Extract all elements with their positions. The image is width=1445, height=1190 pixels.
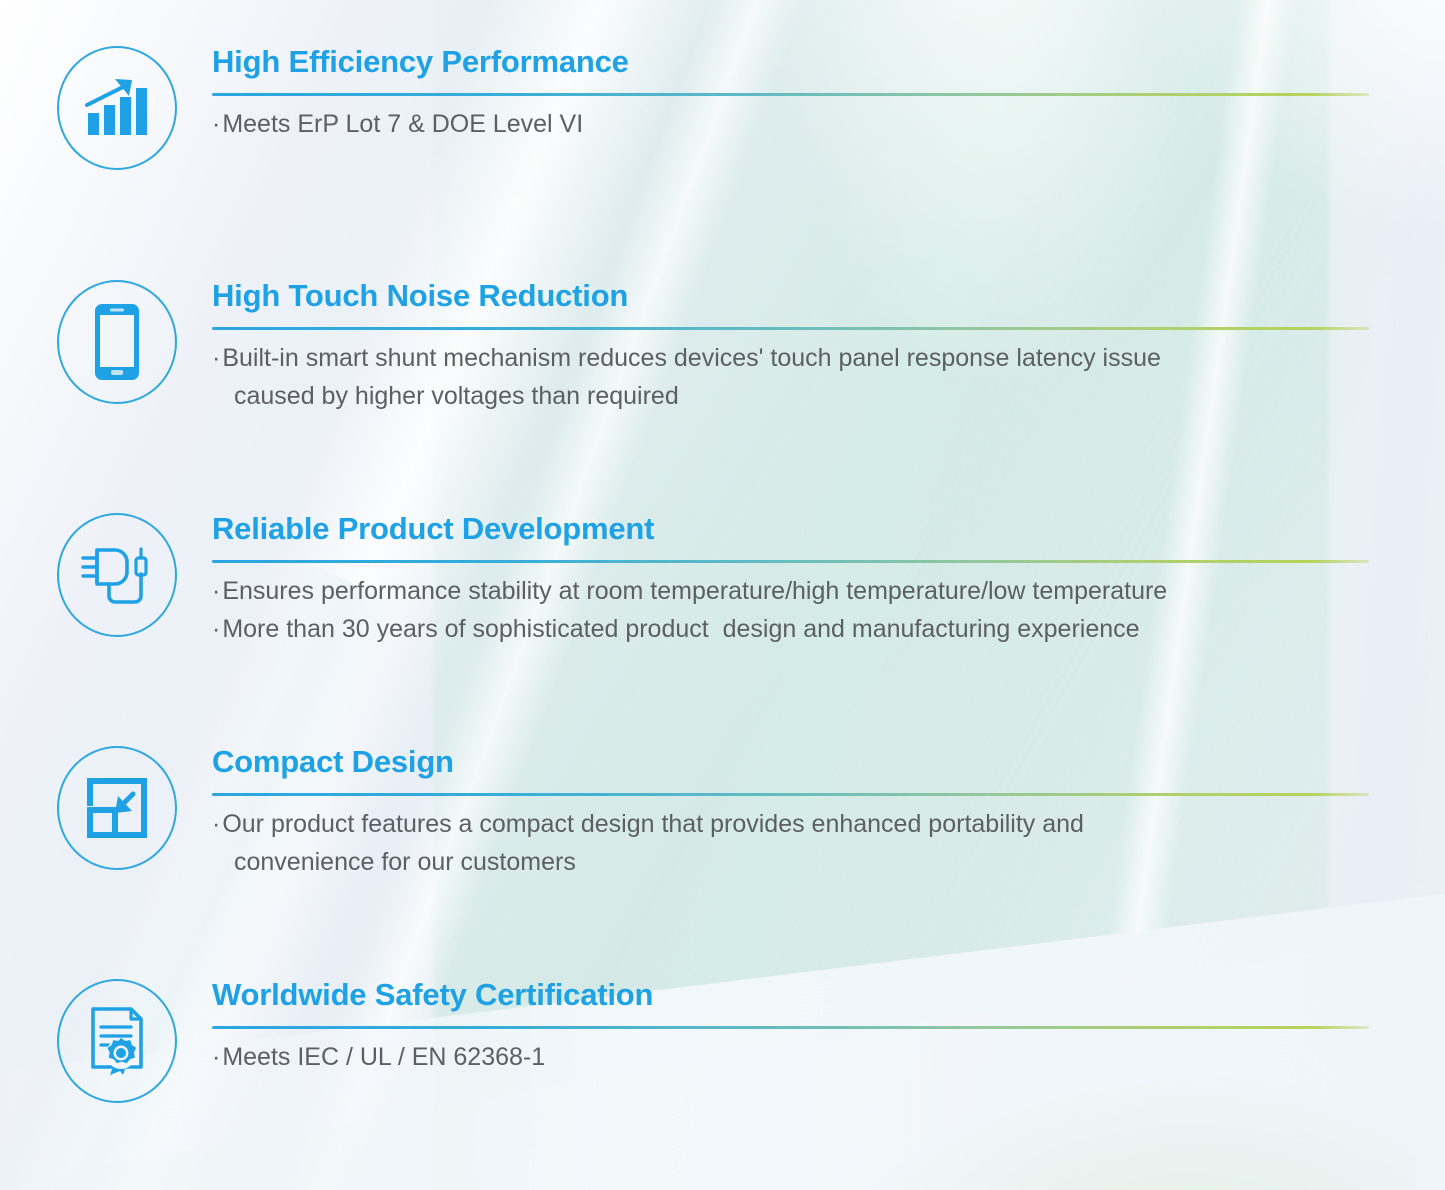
feature-divider — [212, 1026, 1369, 1029]
feature-icon-wrapper — [55, 46, 179, 170]
feature-row-high-touch-noise-reduction: High Touch Noise Reduction ·Built-in sma… — [0, 280, 1445, 415]
bullet-text: Our product features a compact design th… — [222, 810, 1084, 838]
feature-bullet-continuation: convenience for our customers — [212, 843, 1445, 881]
bullet-marker: · — [212, 1043, 220, 1071]
feature-divider — [212, 93, 1369, 96]
feature-title: High Touch Noise Reduction — [212, 280, 1445, 313]
feature-title: Compact Design — [212, 746, 1445, 779]
bullet-marker: · — [212, 110, 220, 138]
feature-bullet-list: ·Built-in smart shunt mechanism reduces … — [212, 339, 1445, 415]
feature-text-block: High Efficiency Performance ·Meets ErP L… — [212, 46, 1445, 143]
bullet-marker: · — [212, 615, 220, 643]
bullet-text: convenience for our customers — [234, 848, 576, 876]
feature-row-worldwide-safety-certification: Worldwide Safety Certification ·Meets IE… — [0, 979, 1445, 1103]
bullet-text: More than 30 years of sophisticated prod… — [222, 615, 1139, 643]
feature-text-block: High Touch Noise Reduction ·Built-in sma… — [212, 280, 1445, 415]
feature-bullet-list: ·Meets ErP Lot 7 & DOE Level VI — [212, 105, 1445, 143]
bullet-marker: · — [212, 577, 220, 605]
feature-icon-wrapper — [55, 979, 179, 1103]
feature-divider — [212, 327, 1369, 330]
feature-row-high-efficiency-performance: High Efficiency Performance ·Meets ErP L… — [0, 46, 1445, 170]
feature-text-block: Compact Design ·Our product features a c… — [212, 746, 1445, 881]
power-adapter-icon — [77, 538, 157, 612]
feature-bullet: ·Meets ErP Lot 7 & DOE Level VI — [212, 105, 1445, 143]
feature-divider — [212, 560, 1369, 563]
smartphone-icon — [94, 303, 140, 381]
feature-icon-wrapper — [55, 746, 179, 870]
icon-circle-outline — [57, 979, 177, 1103]
feature-title: High Efficiency Performance — [212, 46, 1445, 79]
icon-circle-outline — [57, 280, 177, 404]
compact-resize-icon — [86, 777, 148, 839]
bullet-text: Meets IEC / UL / EN 62368-1 — [222, 1043, 545, 1071]
certificate-award-icon — [85, 1005, 149, 1077]
icon-circle-outline — [57, 513, 177, 637]
feature-text-block: Worldwide Safety Certification ·Meets IE… — [212, 979, 1445, 1076]
bullet-text: caused by higher voltages than required — [234, 382, 679, 410]
feature-bullet: ·Ensures performance stability at room t… — [212, 572, 1445, 610]
bullet-marker: · — [212, 810, 220, 838]
feature-bullet: ·Our product features a compact design t… — [212, 805, 1445, 843]
feature-row-reliable-product-development: Reliable Product Development ·Ensures pe… — [0, 513, 1445, 648]
feature-divider — [212, 793, 1369, 796]
bullet-text: Meets ErP Lot 7 & DOE Level VI — [222, 110, 583, 138]
feature-icon-wrapper — [55, 513, 179, 637]
feature-bullet: ·Built-in smart shunt mechanism reduces … — [212, 339, 1445, 377]
icon-circle-outline — [57, 46, 177, 170]
feature-bullet: ·Meets IEC / UL / EN 62368-1 — [212, 1038, 1445, 1076]
feature-text-block: Reliable Product Development ·Ensures pe… — [212, 513, 1445, 648]
bullet-marker: · — [212, 344, 220, 372]
feature-icon-wrapper — [55, 280, 179, 404]
feature-bullet-list: ·Our product features a compact design t… — [212, 805, 1445, 881]
feature-bullet: ·More than 30 years of sophisticated pro… — [212, 610, 1445, 648]
bullet-text: Ensures performance stability at room te… — [222, 577, 1167, 605]
icon-circle-outline — [57, 746, 177, 870]
feature-bullet-continuation: caused by higher voltages than required — [212, 377, 1445, 415]
feature-list: High Efficiency Performance ·Meets ErP L… — [0, 0, 1445, 1190]
feature-bullet-list: ·Meets IEC / UL / EN 62368-1 — [212, 1038, 1445, 1076]
bullet-text: Built-in smart shunt mechanism reduces d… — [222, 344, 1161, 372]
feature-title: Worldwide Safety Certification — [212, 979, 1445, 1012]
bar-chart-growth-icon — [82, 75, 152, 141]
feature-title: Reliable Product Development — [212, 513, 1445, 546]
feature-row-compact-design: Compact Design ·Our product features a c… — [0, 746, 1445, 881]
feature-bullet-list: ·Ensures performance stability at room t… — [212, 572, 1445, 648]
